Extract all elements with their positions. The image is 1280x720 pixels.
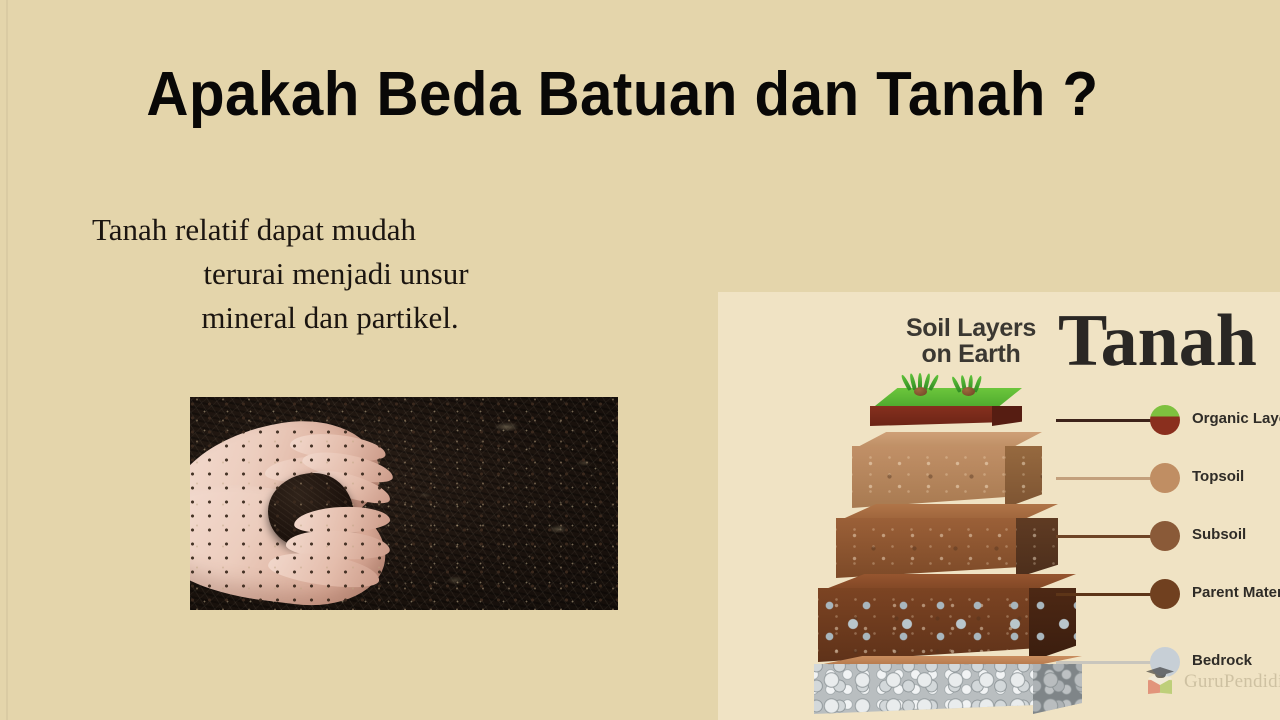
infographic-heading: Soil Layers on Earth xyxy=(876,316,1066,367)
callout-label-topsoil: Topsoil xyxy=(1192,468,1244,485)
callout-lead-line xyxy=(1056,661,1156,664)
callout-label-subsoil: Subsoil xyxy=(1192,526,1246,543)
body-line-3: mineral dan partikel. xyxy=(92,296,562,340)
soil-layer-stack xyxy=(814,388,1104,714)
slab-parent-material xyxy=(818,574,1076,662)
bedrock-face xyxy=(814,664,1034,714)
subsoil-side xyxy=(1016,518,1058,578)
body-line-2: terurai menjadi unsur xyxy=(92,252,562,296)
callout-label-parent-material: Parent Material xyxy=(1192,584,1280,601)
parent-material-pebbles xyxy=(818,588,1030,662)
body-line-1: Tanah relatif dapat mudah xyxy=(92,208,562,252)
infographic-title-tanah: Tanah xyxy=(1058,304,1257,378)
watermark-text: GuruPendidi xyxy=(1184,671,1280,693)
slab-subsoil xyxy=(836,504,1058,578)
graduation-cap-cube-logo xyxy=(1144,666,1178,698)
callout-dot-subsoil xyxy=(1150,521,1180,551)
slab-bedrock xyxy=(814,656,1082,714)
callout-lead-line xyxy=(1056,477,1156,480)
callout-label-organic-layer: Organic Layer xyxy=(1192,410,1280,427)
subsoil-side-speckle xyxy=(1016,518,1058,578)
slide-left-seam xyxy=(6,0,8,720)
organic-layer-face xyxy=(870,406,995,426)
callout-lead-line xyxy=(1056,593,1156,596)
cap-board xyxy=(1146,667,1174,676)
slab-topsoil xyxy=(852,432,1042,508)
body-paragraph: Tanah relatif dapat mudah terurai menjad… xyxy=(92,208,562,340)
parent-material-face xyxy=(818,588,1030,662)
organic-layer-side xyxy=(992,406,1022,426)
callout-lead-line xyxy=(1056,535,1156,538)
topsoil-side-speckle xyxy=(1005,446,1042,508)
soil-crumbs xyxy=(190,397,618,610)
subsoil-face xyxy=(836,518,1018,578)
callout-dot-topsoil xyxy=(1150,463,1180,493)
topsoil-side xyxy=(1005,446,1042,508)
parent-material-side xyxy=(1029,588,1076,662)
topsoil-speckle xyxy=(852,446,1008,508)
slab-organic-grass xyxy=(870,388,1022,432)
bedrock-side-rocks xyxy=(1033,664,1082,714)
parent-material-side-pebbles xyxy=(1029,588,1076,662)
soil-layers-infographic: Soil Layers on Earth Tanah xyxy=(718,292,1280,720)
bedrock-rocks xyxy=(814,664,1034,714)
bedrock-side xyxy=(1033,664,1082,714)
hands-holding-soil-photo xyxy=(190,397,618,610)
callout-lead-line xyxy=(1056,419,1156,422)
topsoil-face xyxy=(852,446,1008,508)
infographic-heading-line-2: on Earth xyxy=(876,342,1066,368)
callout-dot-organic-layer xyxy=(1150,405,1180,435)
slide-canvas: Apakah Beda Batuan dan Tanah ? Tanah rel… xyxy=(0,0,1280,720)
watermark: GuruPendidi xyxy=(1144,666,1280,698)
infographic-heading-line-1: Soil Layers xyxy=(876,316,1066,342)
subsoil-speckle xyxy=(836,518,1018,578)
page-title: Apakah Beda Batuan dan Tanah ? xyxy=(37,62,1207,127)
callout-dot-parent-material xyxy=(1150,579,1180,609)
